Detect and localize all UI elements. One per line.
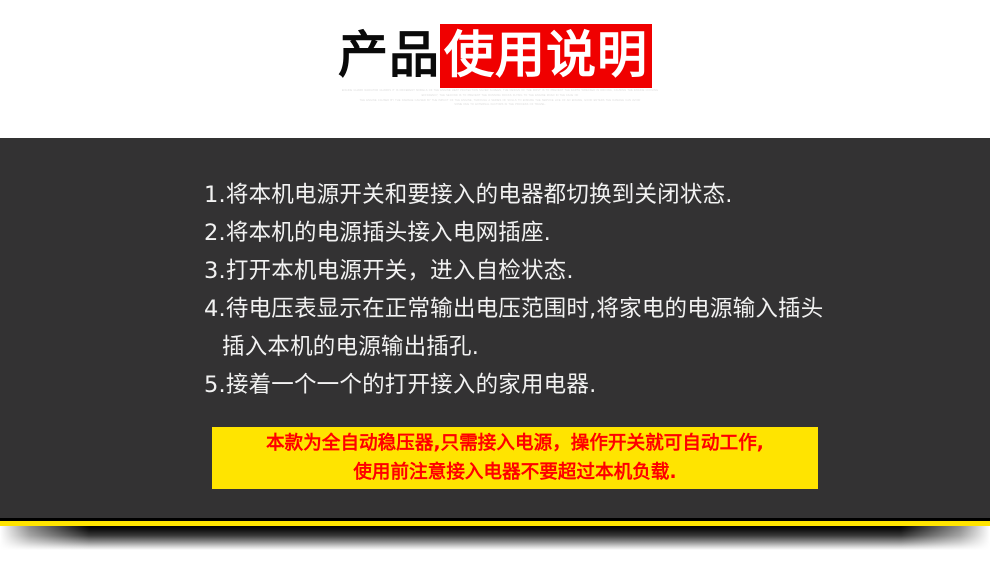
page-title: 产品使用说明 (0, 24, 990, 88)
page-title-highlight: 使用说明 (440, 24, 652, 88)
instruction-step: 4.待电压表显示在正常输出电压范围时,将家电的电源输入插头 (204, 290, 924, 328)
warning-line: 本款为全自动稳压器,只需接入电源，操作开关就可自动工作, (266, 429, 764, 458)
instructions-panel: 1.将本机电源开关和要接入的电器都切换到关闭状态. 2.将本机的电源插头接入电网… (0, 138, 990, 518)
instruction-step: 5.接着一个一个的打开接入的家用电器. (204, 366, 924, 404)
warning-line: 使用前注意接入电器不要超过本机负载. (353, 458, 676, 487)
instruction-step-list: 1.将本机电源开关和要接入的电器都切换到关闭状态. 2.将本机的电源插头接入电网… (204, 176, 924, 404)
instruction-step-continuation: 插入本机的电源输出插孔. (204, 328, 924, 366)
instruction-step: 1.将本机电源开关和要接入的电器都切换到关闭状态. (204, 176, 924, 214)
header-subtext-line: SOME DUE TO EXTERNAL FACTORS IN THE PROC… (275, 103, 725, 108)
page-header: 产品使用说明 ENGINE GUARD RADIATOR GUARDS IT I… (0, 0, 990, 138)
instruction-step: 3.打开本机电源开关，进入自检状态. (204, 252, 924, 290)
header-subtext: ENGINE GUARD RADIATOR GUARDS IT IS DIFFE… (275, 89, 725, 108)
page-title-plain: 产品 (338, 24, 440, 88)
footer-shadow-side-fade (0, 526, 990, 550)
instruction-step: 2.将本机的电源插头接入电网插座. (204, 214, 924, 252)
footer-white-space (0, 550, 990, 568)
warning-box: 本款为全自动稳压器,只需接入电源，操作开关就可自动工作, 使用前注意接入电器不要… (212, 427, 818, 489)
